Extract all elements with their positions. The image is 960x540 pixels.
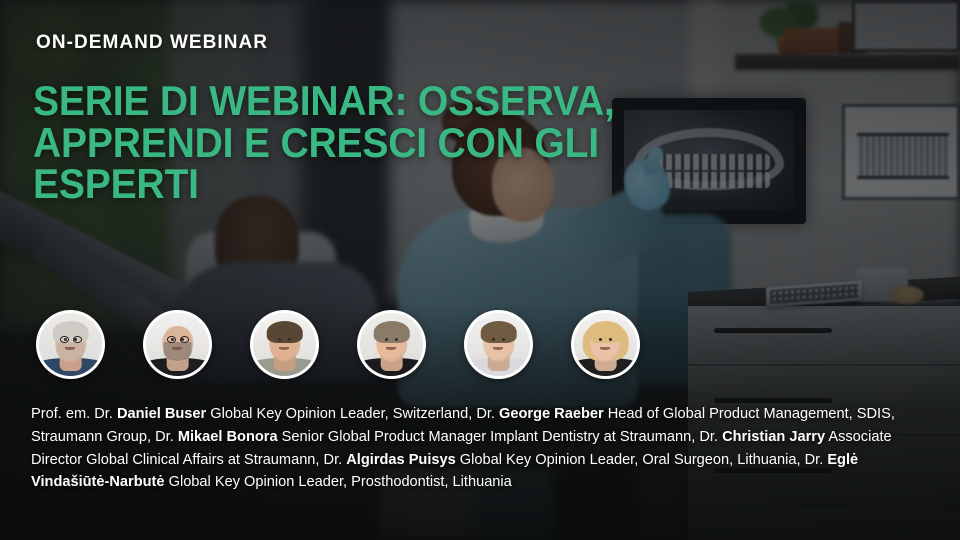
speaker-role: Global Key Opinion Leader, Switzerland, … xyxy=(206,406,499,422)
portrait-george-raeber xyxy=(146,313,209,376)
speaker-name: Christian Jarry xyxy=(722,429,825,445)
speaker-name: Mikael Bonora xyxy=(178,429,278,445)
portrait-daniel-buser xyxy=(39,313,102,376)
glasses-icon xyxy=(167,336,190,343)
avatar xyxy=(36,310,105,379)
portrait-christian-jarry xyxy=(360,313,423,376)
headline-line-2: APPRENDI E CRESCI CON GLI ESPERTI xyxy=(33,122,647,205)
speaker-credits: Prof. em. Dr. Daniel Buser Global Key Op… xyxy=(31,403,935,494)
speaker-role: Prof. em. Dr. xyxy=(31,406,117,422)
banner-content: ON-DEMAND WEBINAR SERIE DI WEBINAR: OSSE… xyxy=(0,0,960,540)
avatar xyxy=(250,310,319,379)
avatar xyxy=(143,310,212,379)
speaker-role: Global Key Opinion Leader, Oral Surgeon,… xyxy=(456,452,828,468)
webinar-banner: ON-DEMAND WEBINAR SERIE DI WEBINAR: OSSE… xyxy=(0,0,960,540)
avatar xyxy=(464,310,533,379)
speaker-name: George Raeber xyxy=(499,406,604,422)
headline-line-1: SERIE DI WEBINAR: OSSERVA, xyxy=(33,77,615,124)
portrait-algirdas-puisys xyxy=(467,313,530,376)
speaker-role: Global Key Opinion Leader, Prosthodontis… xyxy=(165,474,512,490)
avatar xyxy=(357,310,426,379)
page-title: SERIE DI WEBINAR: OSSERVA, APPRENDI E CR… xyxy=(33,80,647,205)
speaker-role: Senior Global Product Manager Implant De… xyxy=(278,429,723,445)
speaker-name: Algirdas Puisys xyxy=(346,452,456,468)
avatar xyxy=(571,310,640,379)
eyebrow-label: ON-DEMAND WEBINAR xyxy=(36,32,268,54)
glasses-icon xyxy=(60,336,83,343)
speaker-name: Daniel Buser xyxy=(117,406,206,422)
portrait-egle-vindasiute-narbute xyxy=(574,313,637,376)
speaker-avatar-row xyxy=(36,310,640,379)
portrait-mikael-bonora xyxy=(253,313,316,376)
